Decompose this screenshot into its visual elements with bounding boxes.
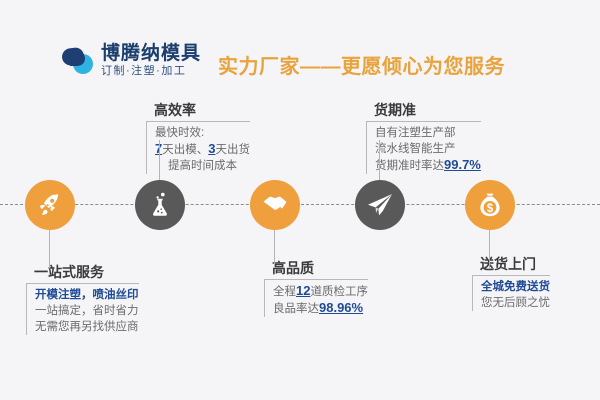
rocket-icon[interactable] <box>25 180 75 230</box>
flask-icon[interactable] <box>135 180 185 230</box>
metric-label: 货期准时率达 <box>375 160 444 172</box>
block-line: 最快时效: <box>155 125 250 141</box>
metric-label: 良品率达 <box>273 303 319 315</box>
block-heading: 一站式服务 <box>26 262 139 282</box>
block-line: 一站搞定，省时省力 <box>35 303 139 319</box>
block-high-efficiency: 高效率 最快时效: 7天出模、3天出货 提高时间成本 <box>146 100 250 174</box>
timeline-node-on-time-delivery[interactable] <box>355 180 405 230</box>
stem-connector <box>49 228 50 268</box>
block-heading: 高效率 <box>146 100 250 120</box>
block-line: 无需您再另找供应商 <box>35 319 139 335</box>
logo-tagline: 订制·注塑·加工 <box>101 64 201 78</box>
timeline-node-one-stop-service[interactable] <box>25 180 75 230</box>
block-line: 您无后顾之忧 <box>481 295 550 311</box>
header: 博腾纳模具 订制·注塑·加工 实力厂家——更愿倾心为您服务 <box>0 42 600 86</box>
block-heading: 送货上门 <box>472 254 550 274</box>
block-body: 自有注塑生产部 流水线智能生产 货期准时率达99.7% <box>366 121 481 174</box>
metric-unit: 道质检工序 <box>310 286 368 298</box>
stem-connector <box>274 228 275 268</box>
metric-unit: 天出货 <box>215 144 250 156</box>
metric-label: 全程 <box>273 286 296 298</box>
logo-company-name: 博腾纳模具 <box>101 44 201 64</box>
block-heading: 货期准 <box>366 100 481 120</box>
block-on-time-delivery: 货期准 自有注塑生产部 流水线智能生产 货期准时率达99.7% <box>366 100 481 174</box>
company-logo: 博腾纳模具 订制·注塑·加工 <box>62 44 201 78</box>
block-body: 最快时效: 7天出模、3天出货 提高时间成本 <box>146 121 250 174</box>
block-high-quality: 高品质 全程12道质检工序 良品率达98.96% <box>264 258 368 317</box>
block-line: 提高时间成本 <box>155 158 250 174</box>
block-body: 全城免费送货 您无后顾之忧 <box>472 275 550 311</box>
block-one-stop-service: 一站式服务 开模注塑，喷油丝印 一站搞定，省时省力 无需您再另找供应商 <box>26 262 139 335</box>
timeline-node-high-quality[interactable] <box>250 180 300 230</box>
block-line: 货期准时率达99.7% <box>375 157 481 174</box>
metric-value: 12 <box>296 283 310 298</box>
metric-unit: 天出模、 <box>162 144 208 156</box>
metric-value: 99.7% <box>444 157 481 172</box>
block-door-delivery: 送货上门 全城免费送货 您无后顾之忧 <box>472 254 550 311</box>
paper-plane-icon[interactable] <box>355 180 405 230</box>
block-line: 流水线智能生产 <box>375 141 481 157</box>
block-body: 开模注塑，喷油丝印 一站搞定，省时省力 无需您再另找供应商 <box>26 283 139 335</box>
money-bag-icon[interactable]: $ <box>465 180 515 230</box>
timeline-node-high-efficiency[interactable] <box>135 180 185 230</box>
block-line: 全城免费送货 <box>481 279 550 295</box>
block-line: 良品率达98.96% <box>273 300 368 317</box>
stem-connector <box>489 228 490 268</box>
stem-connector <box>379 140 380 182</box>
timeline-node-door-delivery[interactable]: $ <box>465 180 515 230</box>
handshake-icon[interactable] <box>250 180 300 230</box>
block-line: 自有注塑生产部 <box>375 125 481 141</box>
block-line: 7天出模、3天出货 <box>155 141 250 158</box>
svg-text:$: $ <box>487 203 494 215</box>
page-headline: 实力厂家——更愿倾心为您服务 <box>218 50 505 79</box>
block-body: 全程12道质检工序 良品率达98.96% <box>264 279 368 317</box>
cloud-droplet-logo-icon <box>62 46 96 76</box>
block-heading: 高品质 <box>264 258 368 278</box>
metric-value: 98.96% <box>319 300 363 315</box>
block-line: 全程12道质检工序 <box>273 283 368 300</box>
stem-connector <box>159 140 160 182</box>
block-line: 开模注塑，喷油丝印 <box>35 287 139 303</box>
